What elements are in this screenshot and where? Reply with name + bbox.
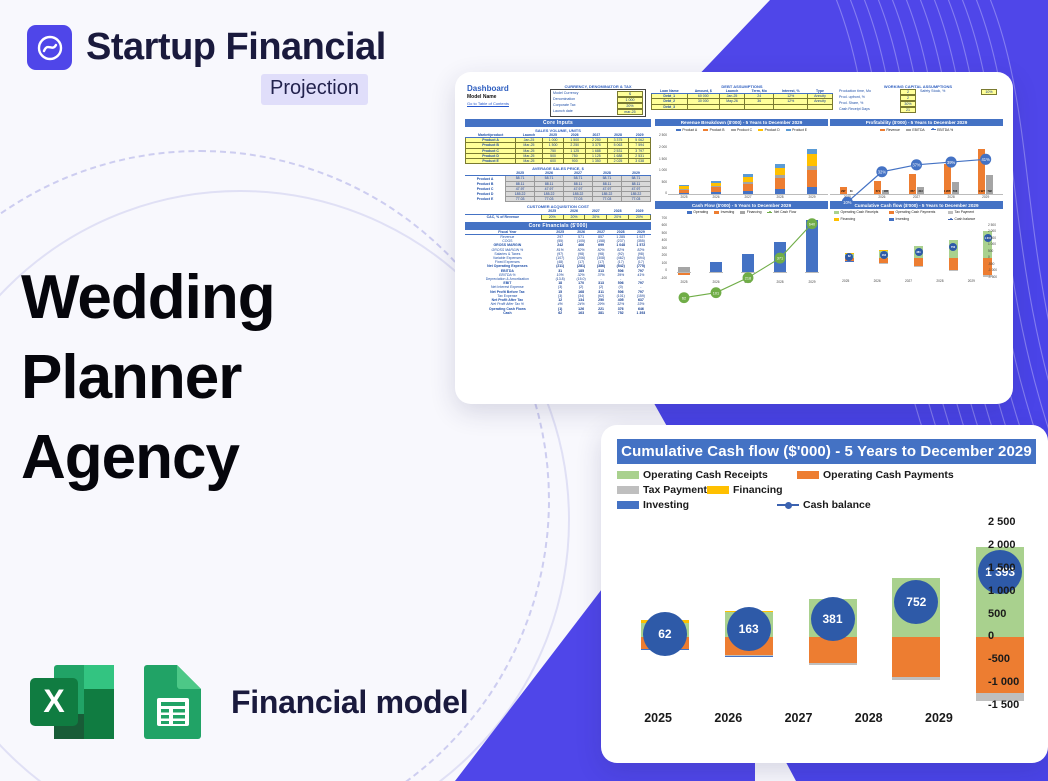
x-axis-ticks: 20252026202720282029 — [668, 195, 828, 199]
legend-item: Operating Cash Payments — [797, 469, 957, 481]
svg-text:640: 640 — [809, 222, 815, 226]
table-row[interactable]: Debt_3 — [652, 104, 833, 109]
table-of-contents-link[interactable]: Go to Table of Contents — [467, 101, 545, 106]
y-axis-ticks: 2 5002 0001 5001 0005000-500-1 000-1 500 — [988, 223, 1003, 279]
model-name-label: Model Name — [467, 94, 545, 100]
chart-title: Profitability ($'000) - 5 Years to Decem… — [830, 119, 1003, 126]
legend-item: Cash balance — [777, 499, 871, 511]
chart-profitability[interactable]: Profitability ($'000) - 5 Years to Decem… — [830, 119, 1003, 199]
average-sales-price-table[interactable]: 2025 2026 2027 2028 2029 Product A58.715… — [465, 171, 651, 202]
chart-title: Revenue Breakdown ($'000) - 5 Years to D… — [655, 119, 828, 126]
chart-legend: Operating Investing Financing Net Cash F… — [655, 209, 828, 216]
chart-revenue-breakdown[interactable]: Revenue Breakdown ($'000) - 5 Years to D… — [655, 119, 828, 199]
svg-text:41%: 41% — [982, 157, 991, 162]
wc-value[interactable]: 21 — [900, 107, 916, 113]
currency-block: Model Currency$ Denomination1 000 Corpor… — [550, 89, 646, 117]
format-badges: X Financial model — [27, 662, 468, 742]
chart-plot-area: 297315711858573131 2855061 927792 10%32%… — [830, 133, 1003, 195]
svg-text:371: 371 — [777, 256, 783, 260]
legend-item: Financing — [707, 484, 887, 496]
debt-assumptions-table[interactable]: Loan Name Amount, $ Launch Term, Mo Inte… — [651, 89, 833, 110]
chart-legend: Product A Product B Product C Product D … — [655, 126, 828, 133]
wc-label: Cash Receipt Days — [839, 107, 870, 113]
wc-label: Safety Stock, % — [920, 89, 945, 95]
cac-table[interactable]: 2025 2026 2027 2028 2029 CAC, % of Reven… — [465, 209, 651, 219]
svg-text:37%: 37% — [912, 163, 921, 168]
core-financials-table[interactable]: Fiscal Year 2025 2026 2027 2028 2029 Rev… — [465, 230, 651, 315]
dashboard-title: Dashboard — [467, 84, 545, 93]
table-row[interactable]: Cash621633817521 393 — [465, 311, 651, 315]
chart-title: Cash Flow ($'000) - 5 Years to December … — [655, 201, 828, 208]
dashboard-preview-card[interactable]: Dashboard Model Name Go to Table of Cont… — [455, 72, 1013, 404]
currency-row-label: Launch date — [553, 109, 573, 115]
legend-item: Tax Payment — [617, 484, 707, 496]
svg-text:X: X — [43, 683, 65, 719]
core-inputs-header: Core Inputs — [465, 119, 651, 127]
chart-plot-area: 2 5002 0001 5001 0005000 — [655, 133, 828, 195]
cumulative-cash-flow-card[interactable]: Cumulative Cash flow ($'000) - 5 Years t… — [601, 425, 1048, 763]
chart-cash-flow[interactable]: Cash Flow ($'000) - 5 Years to December … — [655, 201, 828, 283]
y-axis-ticks: 2 5002 0001 5001 0005000-500-1 000-1 500 — [978, 516, 1036, 711]
sales-volume-table[interactable]: Market/product Launch 2025 2026 2027 202… — [465, 133, 651, 164]
data-point-label: 381 — [811, 597, 855, 641]
bar-group — [775, 164, 785, 195]
page-title: Wedding Planner Agency — [21, 258, 351, 498]
data-point-label: 62 — [643, 612, 687, 656]
chart-legend: Revenue EBITDA EBITDA % — [830, 126, 1003, 133]
table-row[interactable]: Product EMar-256009001 3502 0253 038 — [466, 159, 651, 164]
core-financials-header: Core Financials ($'000) — [465, 222, 651, 230]
legend-item: Investing — [617, 499, 777, 511]
currency-block-title: CURRENCY, DENOMINATOR & TAX — [550, 84, 646, 89]
brand-subtitle: Projection — [261, 74, 368, 105]
data-point-label: 752 — [894, 580, 938, 624]
y-axis-ticks: 2 5002 0001 5001 0005000 — [655, 133, 667, 195]
chart-title: Cumulative Cash flow ($'000) - 5 Years t… — [617, 439, 1036, 464]
chart-body: 621633817521 393 2 5002 0001 5001 000500… — [617, 520, 1036, 735]
svg-text:39%: 39% — [947, 160, 956, 165]
brand-title: Startup Financial — [86, 26, 386, 69]
microsoft-excel-icon: X — [27, 662, 117, 742]
svg-text:218: 218 — [745, 276, 751, 280]
chart-plot-area: 7006005004003002001000-100 6210121837164… — [655, 216, 828, 280]
bar-group — [743, 174, 753, 194]
svg-text:62: 62 — [682, 296, 686, 300]
google-sheets-icon — [139, 662, 209, 742]
bar-group — [679, 185, 689, 194]
x-axis-ticks: 20252026202720282029 — [830, 279, 987, 283]
currency-row-value[interactable]: mar-25 — [617, 109, 643, 115]
svg-text:10%: 10% — [843, 200, 852, 205]
bar-group — [807, 149, 817, 195]
data-point-label: 381 — [915, 248, 923, 256]
chart-legend: Operating Cash Receipts Operating Cash P… — [617, 469, 1036, 514]
x-axis-ticks: 20252026202720282029 — [623, 711, 974, 735]
table-row[interactable]: Product E77.0377.0377.0377.0377.03 — [465, 197, 651, 202]
svg-text:101: 101 — [713, 291, 719, 295]
table-row[interactable]: CAC, % of Revenue 20% 20% 20% 20% 20% — [465, 214, 651, 219]
data-point-label: 163 — [727, 607, 771, 651]
format-label: Financial model — [231, 684, 468, 721]
working-capital-block[interactable]: Production time, Mo2 Prod. upfront, %2 P… — [838, 89, 998, 113]
wc-value[interactable]: 10% — [981, 89, 997, 95]
brand-header: Startup Financial Projection — [27, 25, 386, 105]
y-axis-ticks: 7006005004003002001000-100 — [655, 216, 667, 280]
chart-plot-area: 621633817521 393 2 5002 0001 5001 000500… — [830, 223, 1003, 279]
circle-swirl-logo-icon — [27, 25, 72, 70]
bar-group — [711, 181, 721, 195]
table-row[interactable]: Net Profit After Tax %4%24%29%32%33% — [465, 302, 651, 306]
svg-text:32%: 32% — [878, 170, 887, 175]
legend-item: Operating Cash Receipts — [617, 469, 797, 481]
